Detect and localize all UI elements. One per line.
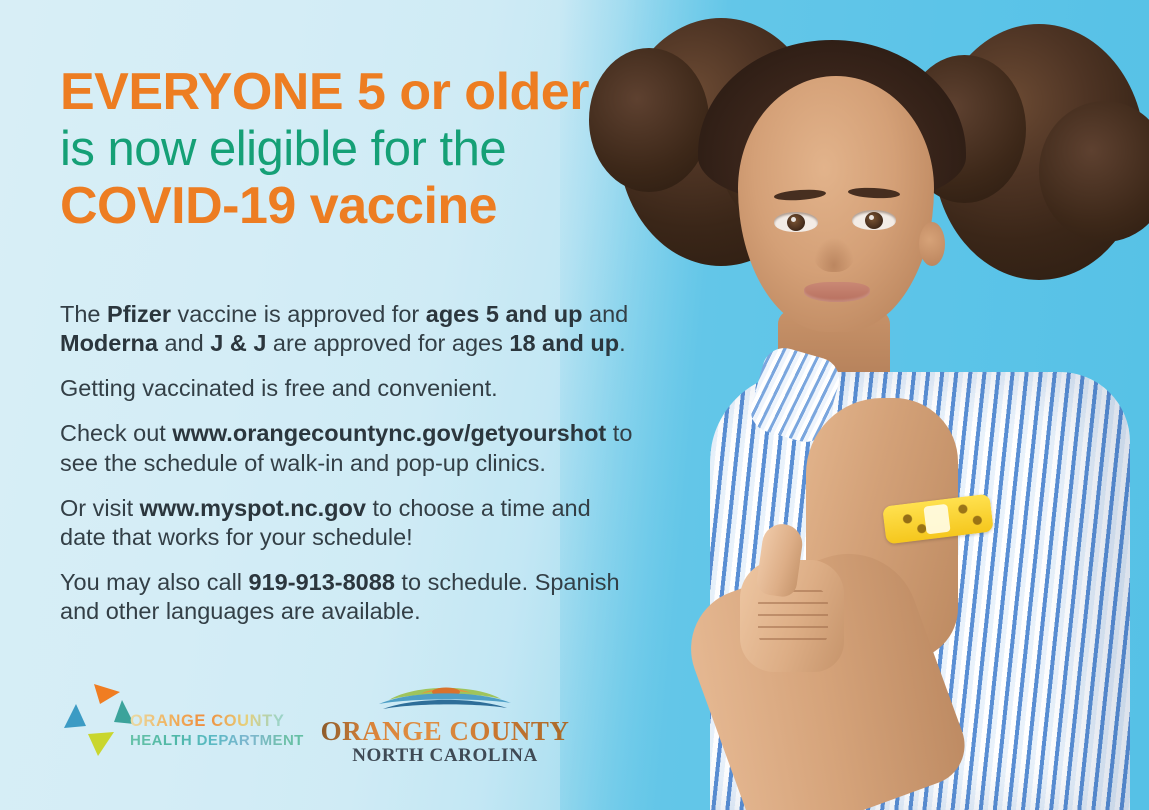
sunset-hills-water-icon <box>375 680 515 714</box>
paragraph-free-convenient: Getting vaccinated is free and convenien… <box>60 374 640 403</box>
headline-line-2: is now eligible for the <box>60 125 660 175</box>
moderna-bold: Moderna <box>60 330 158 356</box>
mouth <box>804 282 870 302</box>
ages-18-and-up-bold: 18 and up <box>509 330 619 356</box>
myspot-url[interactable]: www.myspot.nc.gov <box>140 495 366 521</box>
ochd-line-1: ORANGE COUNTY <box>130 712 310 731</box>
nose <box>814 238 854 272</box>
eye-right <box>852 210 896 230</box>
ochd-line-2: HEALTH DEPARTMENT <box>130 732 310 749</box>
jandj-bold: J & J <box>210 330 266 356</box>
eye-left <box>774 212 818 232</box>
ear <box>919 222 945 266</box>
orange-county-north-carolina-logo: ORANGE COUNTY NORTH CAROLINA <box>320 680 570 772</box>
logo-row: ORANGE COUNTY HEALTH DEPARTMENT ORANGE C… <box>60 682 580 774</box>
ocnc-line-1: ORANGE COUNTY <box>320 716 570 747</box>
paragraph-or-visit: Or visit www.myspot.nc.gov to choose a t… <box>60 494 640 552</box>
orangecountync-url[interactable]: www.orangecountync.gov/getyourshot <box>172 420 606 446</box>
four-triangle-circle-icon <box>60 682 140 762</box>
pfizer-bold: Pfizer <box>107 301 171 327</box>
ocnc-line-2: NORTH CAROLINA <box>320 745 570 767</box>
phone-number[interactable]: 919-913-8088 <box>249 569 395 595</box>
body-copy-block: The Pfizer vaccine is approved for ages … <box>60 300 640 642</box>
headline-block: EVERYONE 5 or older is now eligible for … <box>60 66 660 233</box>
ages-5-and-up-bold: ages 5 and up <box>426 301 583 327</box>
paragraph-vaccines: The Pfizer vaccine is approved for ages … <box>60 300 640 358</box>
orange-county-health-department-logo: ORANGE COUNTY HEALTH DEPARTMENT <box>60 682 306 768</box>
headline-line-3: COVID-19 vaccine <box>60 180 660 233</box>
paragraph-check-out: Check out www.orangecountync.gov/getyour… <box>60 419 640 477</box>
headline-line-1: EVERYONE 5 or older <box>60 66 660 119</box>
vaccine-poster: EVERYONE 5 or older is now eligible for … <box>0 0 1149 810</box>
paragraph-call: You may also call 919-913-8088 to schedu… <box>60 568 640 626</box>
